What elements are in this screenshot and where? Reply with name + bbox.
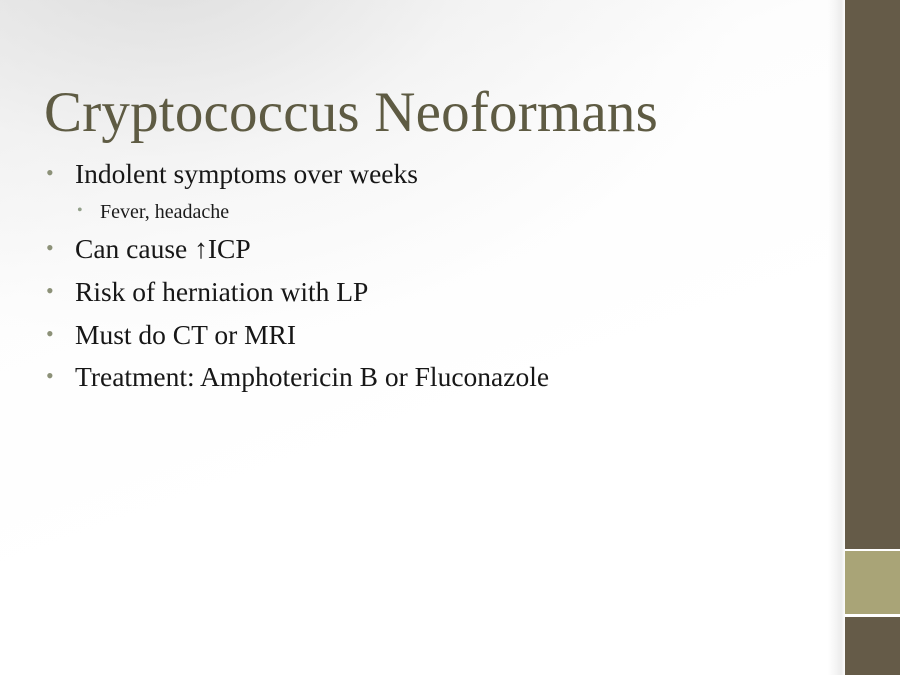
bullet-level1-text: Risk of herniation with LP — [75, 274, 368, 311]
bullet-dot-icon: • — [46, 365, 75, 387]
list-item: • Fever, headache — [77, 199, 806, 225]
list-item: • Treatment: Amphotericin B or Fluconazo… — [46, 359, 806, 396]
bullet-level1-text: Must do CT or MRI — [75, 317, 296, 354]
sidebar-band-top — [845, 0, 900, 549]
bullet-level1-text: Indolent symptoms over weeks — [75, 156, 418, 193]
bullet-level1: • Must do CT or MRI — [46, 317, 806, 354]
bullet-level1: • Risk of herniation with LP — [46, 274, 806, 311]
bullet-dot-icon: • — [46, 162, 75, 184]
bullet-level2: • Fever, headache — [77, 199, 806, 225]
sub-bullet-list: • Fever, headache — [46, 199, 806, 225]
list-item: • Indolent symptoms over weeks • Fever, … — [46, 156, 806, 225]
bullet-dot-icon: • — [46, 323, 75, 345]
bullet-dot-small-icon: • — [77, 203, 100, 219]
bullet-level1-text: Treatment: Amphotericin B or Fluconazole — [75, 359, 549, 396]
decorative-sidebar — [845, 0, 900, 675]
list-item: • Risk of herniation with LP — [46, 274, 806, 311]
list-item: • Must do CT or MRI — [46, 317, 806, 354]
bullet-level1: • Treatment: Amphotericin B or Fluconazo… — [46, 359, 806, 396]
bullet-level2-text: Fever, headache — [100, 199, 229, 225]
bullet-dot-icon: • — [46, 237, 75, 259]
sidebar-shadow — [828, 0, 845, 675]
sidebar-band-bottom — [845, 617, 900, 675]
bullet-dot-icon: • — [46, 280, 75, 302]
slide-canvas: Cryptococcus Neoformans • Indolent sympt… — [0, 0, 900, 675]
slide-title: Cryptococcus Neoformans — [44, 82, 804, 144]
bullet-level1: • Can cause ↑ICP — [46, 231, 806, 268]
bullet-level1: • Indolent symptoms over weeks — [46, 156, 806, 193]
list-item: • Can cause ↑ICP — [46, 231, 806, 268]
slide-body-bullet-list: • Indolent symptoms over weeks • Fever, … — [46, 156, 806, 402]
bullet-level1-text: Can cause ↑ICP — [75, 231, 251, 268]
sidebar-band-middle — [845, 551, 900, 614]
